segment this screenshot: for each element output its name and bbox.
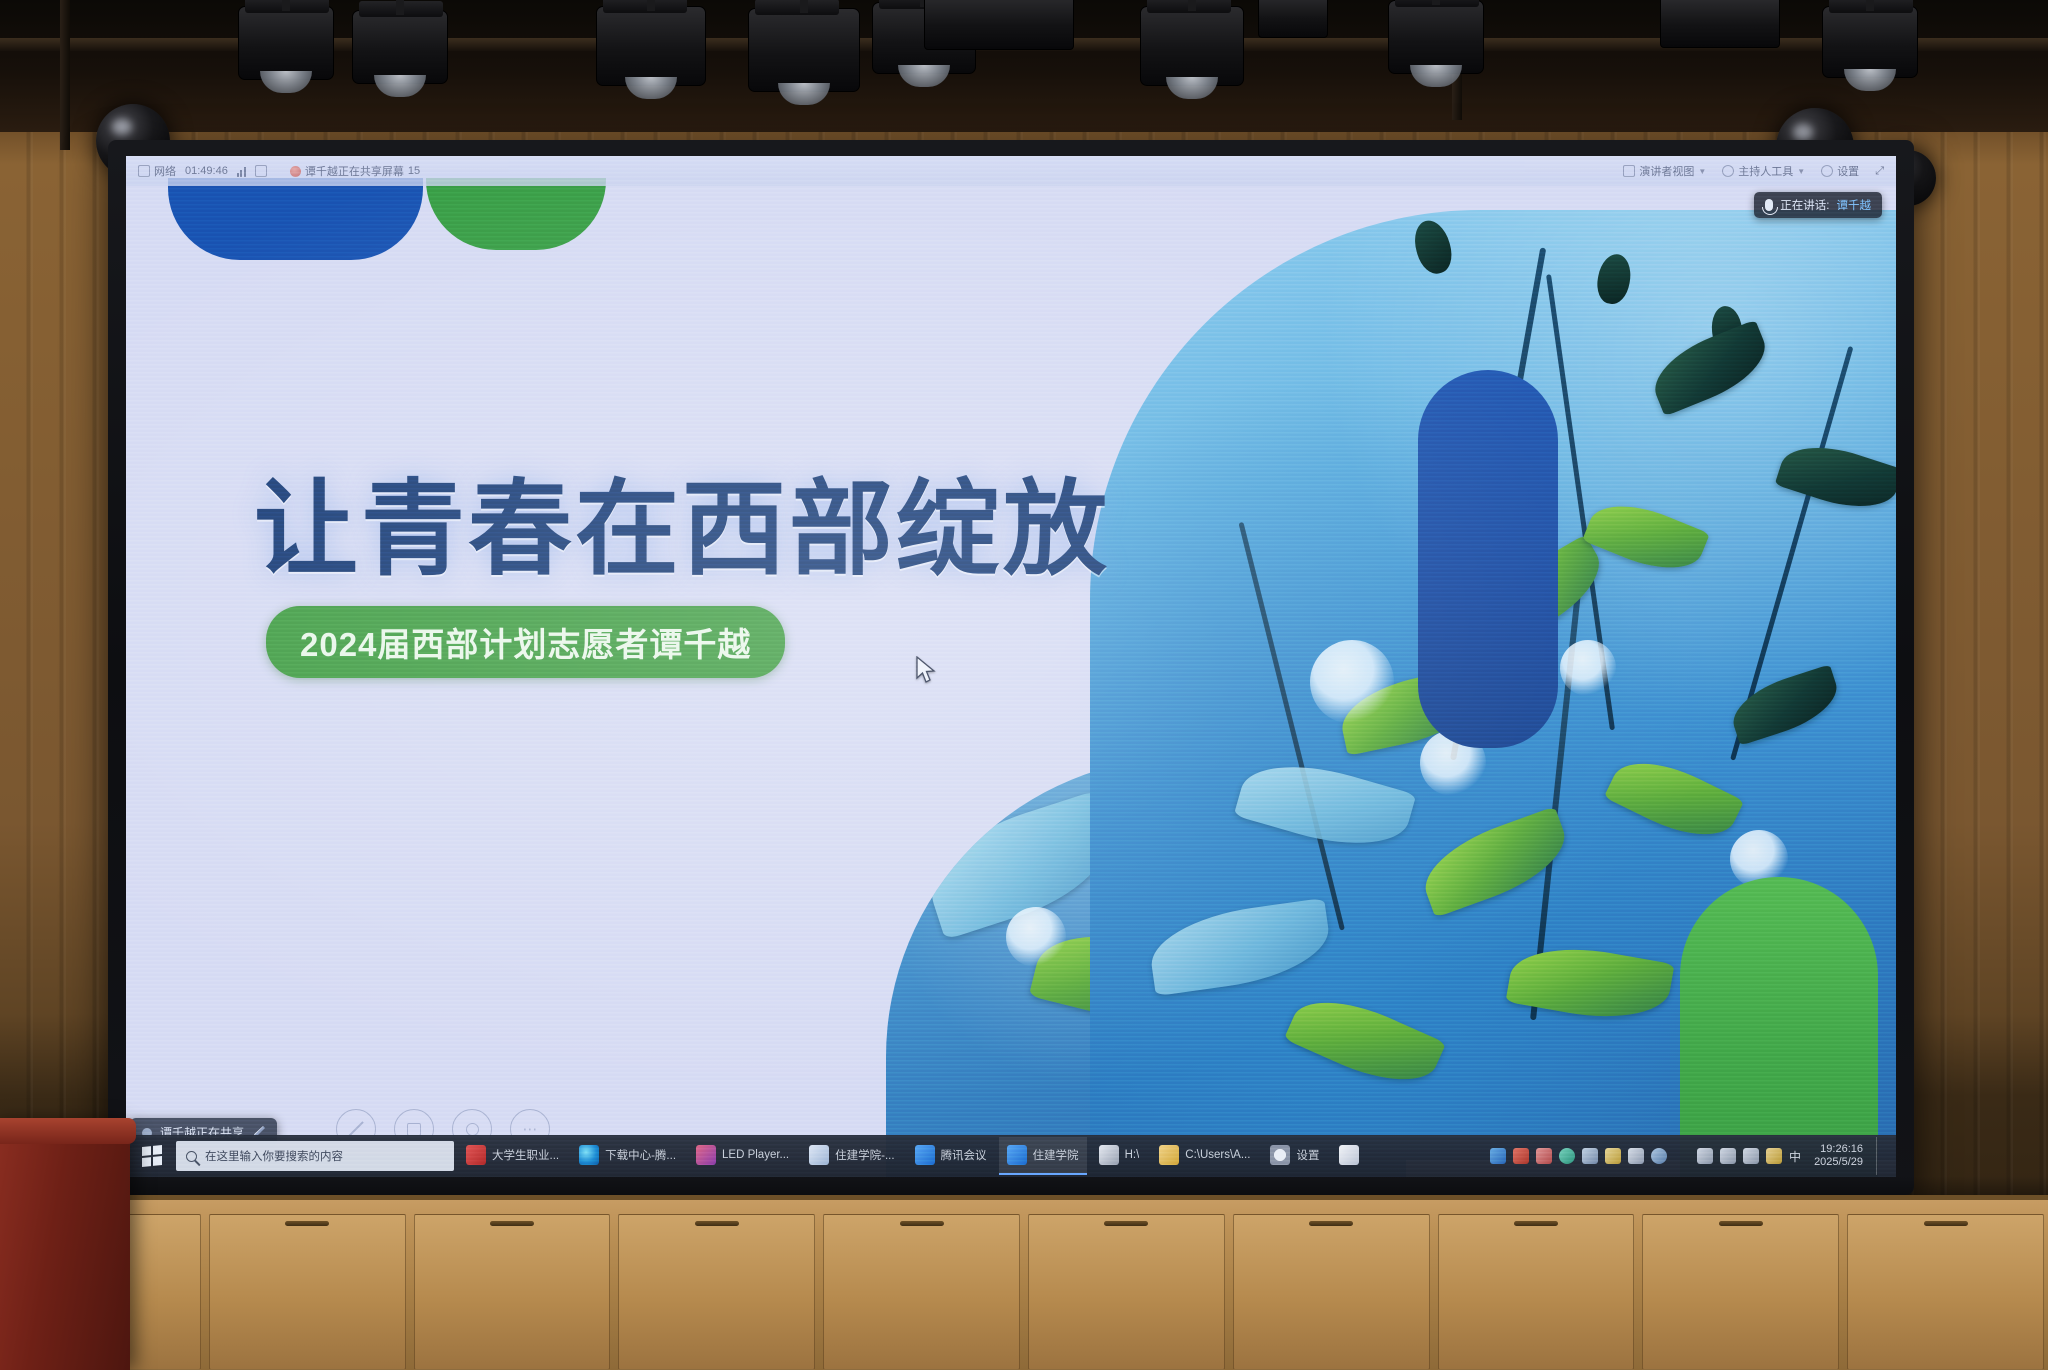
explorer-icon bbox=[809, 1145, 829, 1165]
taskbar-app-settings[interactable]: 设置 bbox=[1262, 1137, 1327, 1175]
speaking-speaker-name: 谭千越 bbox=[1837, 197, 1872, 213]
taskbar-app-users[interactable]: C:\Users\A... bbox=[1151, 1137, 1258, 1175]
lighting-truss bbox=[0, 0, 2048, 150]
recording-dot-icon bbox=[290, 166, 301, 177]
taskbar-app-notes[interactable] bbox=[1331, 1137, 1367, 1175]
search-placeholder: 在这里输入你要搜索的内容 bbox=[205, 1148, 343, 1164]
cabinet-door bbox=[1642, 1214, 1839, 1370]
tray-icon-app4[interactable] bbox=[1559, 1148, 1575, 1164]
tencent-meeting-icon bbox=[1007, 1145, 1027, 1165]
settings-label: 设置 bbox=[1837, 163, 1859, 179]
search-input[interactable]: 在这里输入你要搜索的内容 bbox=[176, 1141, 454, 1171]
stage-light bbox=[1660, 0, 1780, 48]
taskbar-app-ledplayer[interactable]: LED Player... bbox=[688, 1137, 797, 1175]
search-icon bbox=[186, 1151, 197, 1162]
cabinet-door bbox=[209, 1214, 406, 1370]
start-button[interactable] bbox=[132, 1137, 172, 1175]
taskbar-app-label: 腾讯会议 bbox=[941, 1147, 987, 1163]
stage-light bbox=[1388, 0, 1484, 74]
decor-blue-shape bbox=[168, 178, 423, 260]
share-icon bbox=[255, 165, 267, 177]
windows-logo-icon bbox=[142, 1145, 162, 1167]
stage-light bbox=[1822, 6, 1918, 78]
tray-icon-chevron-up[interactable] bbox=[1674, 1148, 1690, 1164]
slide-title: 让青春在西部绽放 bbox=[254, 444, 1110, 595]
windows-taskbar[interactable]: 在这里输入你要搜索的内容 大学生职业... 下载中心-腾... LED Play… bbox=[126, 1135, 1896, 1177]
tray-icon-network[interactable] bbox=[1720, 1148, 1736, 1164]
participants-count-label: 15 bbox=[408, 165, 420, 177]
taskbar-app-label: C:\Users\A... bbox=[1185, 1149, 1250, 1161]
led-player-icon bbox=[696, 1145, 716, 1165]
tray-icon-battery[interactable] bbox=[1697, 1148, 1713, 1164]
recording-status: 谭千越正在共享屏幕 15 bbox=[290, 163, 420, 179]
taskbar-clock[interactable]: 19:26:16 2025/5/29 bbox=[1808, 1143, 1869, 1169]
edge-icon bbox=[579, 1145, 599, 1165]
tray-icon-app6[interactable] bbox=[1628, 1148, 1644, 1164]
stage-light bbox=[352, 10, 448, 84]
elapsed-time-label: 01:49:46 bbox=[185, 165, 228, 177]
cabinet-door bbox=[1438, 1214, 1635, 1370]
stage-light bbox=[924, 0, 1074, 50]
presenter-view-icon bbox=[1623, 165, 1635, 177]
show-desktop-button[interactable] bbox=[1876, 1137, 1884, 1175]
decor-green-shape bbox=[426, 178, 606, 250]
host-tools-icon bbox=[1722, 165, 1734, 177]
podium-top bbox=[0, 1118, 136, 1144]
settings-menu[interactable]: 设置 bbox=[1821, 163, 1859, 179]
led-screen: 网络 01:49:46 谭千越正在共享屏幕 15 bbox=[126, 156, 1896, 1177]
flower-bloom bbox=[1310, 640, 1394, 724]
taskbar-app-college2[interactable]: 住建学院 bbox=[999, 1137, 1087, 1175]
tray-icon-app5[interactable] bbox=[1605, 1148, 1621, 1164]
taskbar-app-drive-h[interactable]: H:\ bbox=[1091, 1137, 1148, 1175]
decor-blue-pill bbox=[1418, 370, 1558, 748]
microphone-icon bbox=[1765, 199, 1773, 211]
taskbar-app-label: 住建学院-... bbox=[835, 1147, 894, 1163]
tray-icon-app3[interactable] bbox=[1536, 1148, 1552, 1164]
folder-icon bbox=[1159, 1145, 1179, 1165]
notes-icon bbox=[1339, 1145, 1359, 1165]
system-tray[interactable]: 中 19:26:16 2025/5/29 bbox=[1490, 1137, 1890, 1175]
presentation-toolbar[interactable]: 网络 01:49:46 谭千越正在共享屏幕 15 bbox=[126, 156, 1896, 186]
recording-status-label: 谭千越正在共享屏幕 bbox=[305, 163, 404, 179]
taskbar-app-label: 住建学院 bbox=[1033, 1147, 1079, 1163]
tray-icon-shield[interactable] bbox=[1582, 1148, 1598, 1164]
elapsed-time: 01:49:46 bbox=[185, 165, 228, 177]
decor-green-arch bbox=[1680, 877, 1878, 1177]
cabinet-door bbox=[823, 1214, 1020, 1370]
cabinet-door bbox=[618, 1214, 815, 1370]
wps-icon bbox=[466, 1145, 486, 1165]
led-screen-bezel: 网络 01:49:46 谭千越正在共享屏幕 15 bbox=[108, 140, 1914, 1195]
stage-light bbox=[1140, 6, 1244, 86]
auditorium-room: 网络 01:49:46 谭千越正在共享屏幕 15 bbox=[0, 0, 2048, 1370]
network-status[interactable]: 网络 bbox=[138, 163, 176, 179]
drive-icon bbox=[1099, 1145, 1119, 1165]
stage-light bbox=[596, 6, 706, 86]
ime-indicator[interactable]: 中 bbox=[1789, 1148, 1801, 1165]
share-screen-icon[interactable] bbox=[255, 165, 267, 177]
taskbar-app-college[interactable]: 住建学院-... bbox=[801, 1137, 902, 1175]
gear-icon bbox=[1821, 165, 1833, 177]
cabinet-door bbox=[1847, 1214, 2044, 1370]
taskbar-app-label: 下载中心-腾... bbox=[605, 1147, 676, 1163]
taskbar-app-label: LED Player... bbox=[722, 1149, 789, 1161]
tray-icon-volume[interactable] bbox=[1743, 1148, 1759, 1164]
tray-icon-app2[interactable] bbox=[1513, 1148, 1529, 1164]
host-tools-menu[interactable]: 主持人工具 ▼ bbox=[1722, 163, 1805, 179]
clock-date: 2025/5/29 bbox=[1814, 1156, 1863, 1169]
stage-light bbox=[1258, 0, 1328, 38]
taskbar-app-label: 设置 bbox=[1296, 1147, 1319, 1163]
chevron-down-icon: ▼ bbox=[1698, 167, 1706, 176]
truss-pole bbox=[60, 0, 70, 150]
tencent-meeting-icon bbox=[915, 1145, 935, 1165]
tray-icon-app7[interactable] bbox=[1651, 1148, 1667, 1164]
network-status-label: 网络 bbox=[154, 163, 176, 179]
speaking-prefix: 正在讲话: bbox=[1780, 197, 1829, 213]
taskbar-app-meeting[interactable]: 腾讯会议 bbox=[907, 1137, 995, 1175]
tray-icon-notification[interactable] bbox=[1766, 1148, 1782, 1164]
flower-bloom bbox=[1560, 640, 1616, 696]
network-icon bbox=[138, 165, 150, 177]
speaker-podium bbox=[0, 1120, 130, 1370]
taskbar-app-label: 大学生职业... bbox=[492, 1147, 559, 1163]
presenter-view-label: 演讲者视图 bbox=[1639, 163, 1694, 179]
presenter-view-menu[interactable]: 演讲者视图 ▼ bbox=[1623, 163, 1706, 179]
taskbar-app-wps[interactable]: 大学生职业... bbox=[458, 1137, 567, 1175]
gear-icon bbox=[1270, 1145, 1290, 1165]
cabinet-door bbox=[1233, 1214, 1430, 1370]
clock-time: 19:26:16 bbox=[1814, 1143, 1863, 1156]
wooden-cabinets bbox=[0, 1195, 2048, 1370]
stage-light bbox=[748, 8, 860, 92]
cabinet-door bbox=[414, 1214, 611, 1370]
expand-button[interactable]: ⤢ bbox=[1875, 165, 1884, 178]
host-tools-label: 主持人工具 bbox=[1738, 163, 1793, 179]
taskbar-app-label: H:\ bbox=[1125, 1149, 1140, 1161]
tray-icon-app1[interactable] bbox=[1490, 1148, 1506, 1164]
speaking-badge: 正在讲话: 谭千越 bbox=[1754, 192, 1882, 218]
cabinet-door bbox=[1028, 1214, 1225, 1370]
slide-subtitle: 2024届西部计划志愿者谭千越 bbox=[266, 606, 785, 678]
stage-light bbox=[238, 6, 334, 80]
chevron-down-icon: ▼ bbox=[1797, 167, 1805, 176]
signal-icon bbox=[237, 166, 246, 177]
taskbar-app-edge[interactable]: 下载中心-腾... bbox=[571, 1137, 684, 1175]
